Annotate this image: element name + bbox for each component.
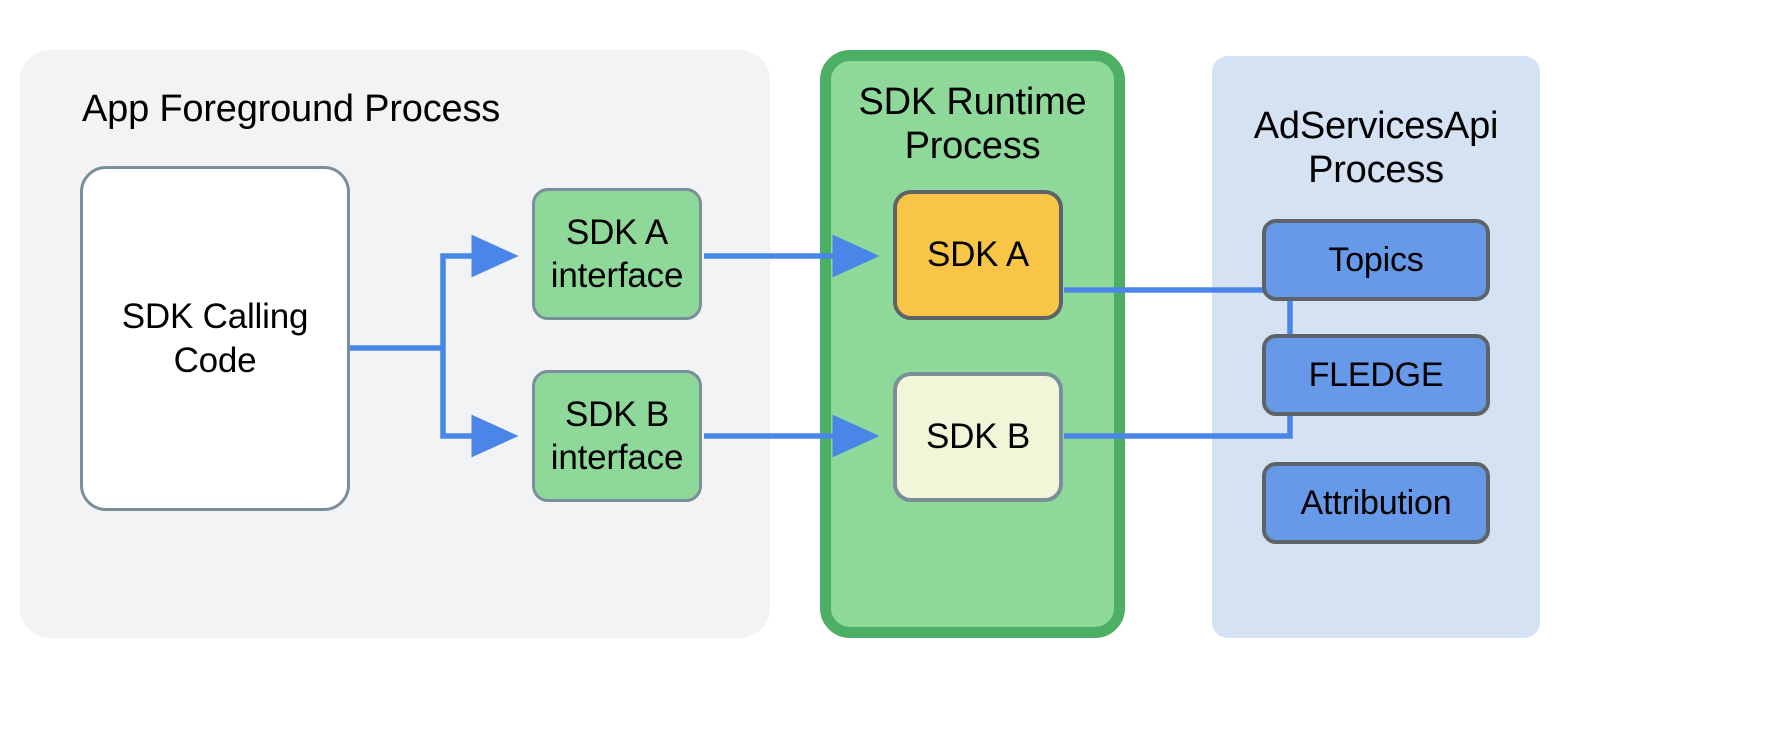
node-attribution[interactable]: Attribution bbox=[1262, 462, 1490, 544]
node-sdk-b[interactable]: SDK B bbox=[893, 372, 1063, 502]
sdk-runtime-process-panel: SDK Runtime Process bbox=[820, 50, 1125, 638]
node-fledge[interactable]: FLEDGE bbox=[1262, 334, 1490, 416]
node-sdk-a[interactable]: SDK A bbox=[893, 190, 1063, 320]
diagram-canvas: App Foreground Process SDK Runtime Proce… bbox=[0, 0, 1776, 746]
node-sdk-calling-code[interactable]: SDK Calling Code bbox=[80, 166, 350, 511]
app-foreground-process-title: App Foreground Process bbox=[82, 87, 500, 131]
adservices-api-process-title: AdServicesApi Process bbox=[1212, 104, 1540, 193]
node-topics[interactable]: Topics bbox=[1262, 219, 1490, 301]
node-sdk-b-interface[interactable]: SDK B interface bbox=[532, 370, 702, 502]
sdk-runtime-process-title: SDK Runtime Process bbox=[831, 80, 1114, 169]
node-sdk-a-interface[interactable]: SDK A interface bbox=[532, 188, 702, 320]
